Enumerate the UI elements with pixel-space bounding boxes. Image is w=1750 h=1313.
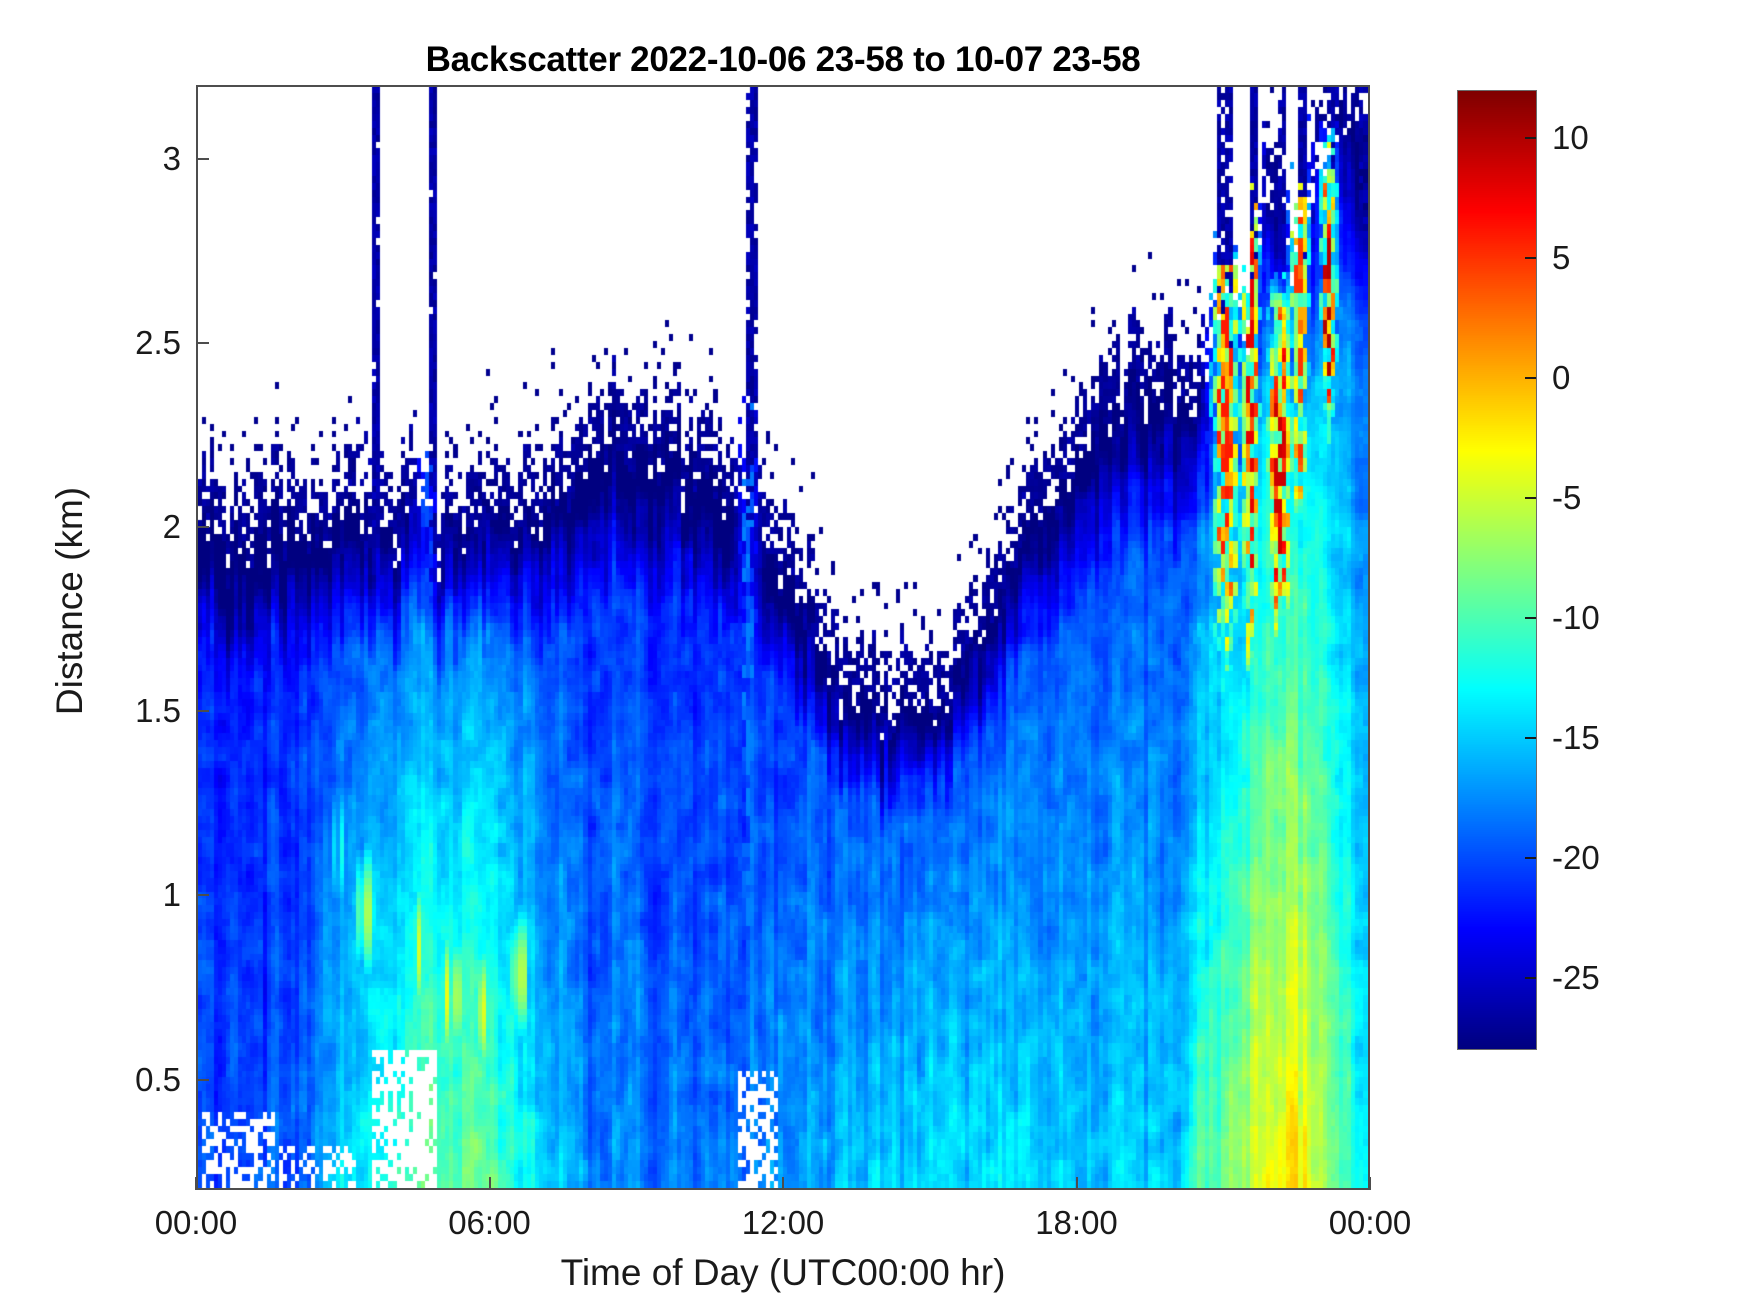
colorbar-tick [1525,857,1536,859]
x-axis-ticklabel: 12:00 [742,1204,825,1242]
colorbar-ticklabel: -15 [1552,719,1600,757]
y-axis-tick [196,894,209,896]
x-axis-ticklabel: 06:00 [448,1204,531,1242]
x-axis-ticklabel: 00:00 [155,1204,238,1242]
x-axis-label: Time of Day (UTC00:00 hr) [196,1252,1370,1294]
colorbar-ticklabel: -5 [1552,479,1581,517]
x-axis-ticklabel: 18:00 [1035,1204,1118,1242]
colorbar-tick [1525,617,1536,619]
backscatter-figure: Backscatter 2022-10-06 23-58 to 10-07 23… [0,0,1750,1313]
y-axis-label: Distance (km) [49,301,91,901]
x-axis-tick [195,1177,197,1190]
x-axis-tick [1369,1177,1371,1190]
colorbar-ticklabel: -20 [1552,839,1600,877]
heatmap-axes [196,85,1370,1190]
y-axis-tick [196,710,209,712]
x-axis-ticklabel: 00:00 [1329,1204,1412,1242]
y-axis-ticklabel: 0.5 [26,1061,181,1099]
colorbar-tick [1525,377,1536,379]
colorbar-ticklabel: 0 [1552,359,1570,397]
colorbar [1457,90,1537,1050]
x-axis-tick [1076,1177,1078,1190]
y-axis-tick [196,526,209,528]
colorbar-gradient [1458,91,1536,1049]
colorbar-ticklabel: -10 [1552,599,1600,637]
x-axis-tick [782,1177,784,1190]
colorbar-ticklabel: 10 [1552,119,1589,157]
x-axis-tick [489,1177,491,1190]
colorbar-ticklabel: 5 [1552,239,1570,277]
colorbar-tick [1525,257,1536,259]
colorbar-ticklabel: -25 [1552,959,1600,997]
page-title: Backscatter 2022-10-06 23-58 to 10-07 23… [196,40,1370,80]
y-axis-tick [196,1079,209,1081]
colorbar-tick [1525,137,1536,139]
backscatter-heatmap [198,87,1368,1188]
y-axis-ticklabel: 3 [26,140,181,178]
colorbar-tick [1525,497,1536,499]
colorbar-tick [1525,977,1536,979]
y-axis-tick [196,342,209,344]
colorbar-tick [1525,737,1536,739]
y-axis-tick [196,158,209,160]
